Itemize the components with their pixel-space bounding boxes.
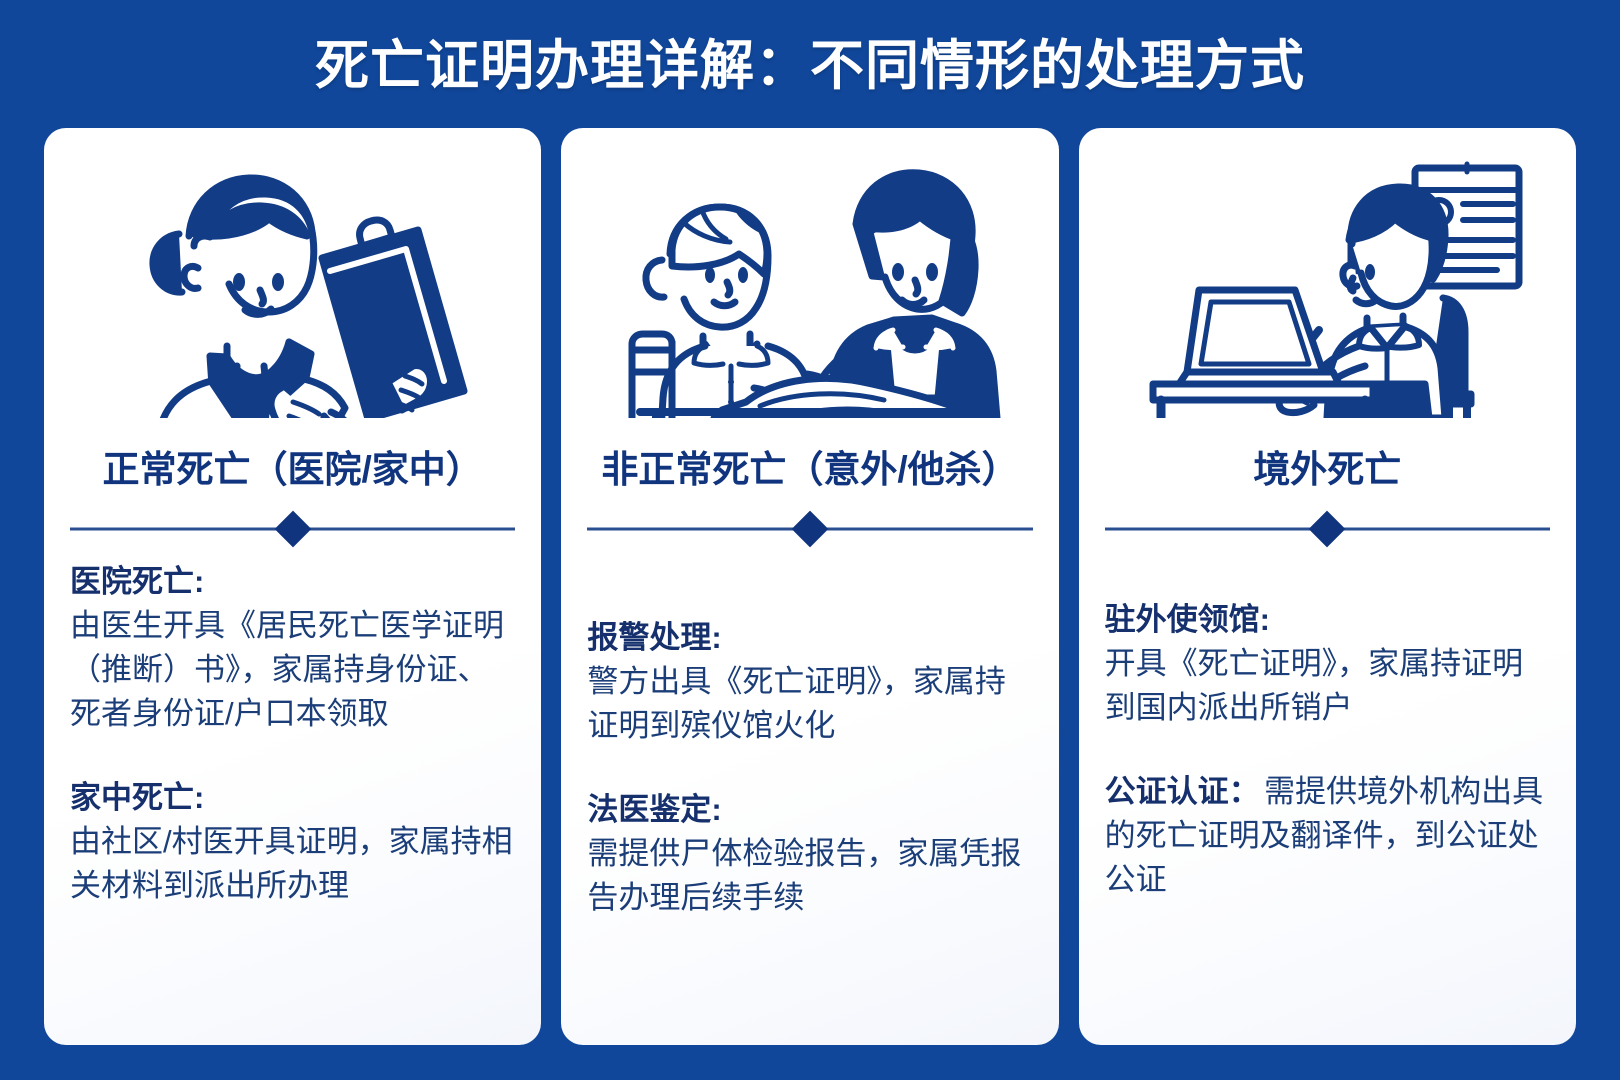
card-abnormal-death[interactable]: 非正常死亡（意外/他杀） 报警处理: 警方出具《死亡证明》，家属持证明到殡仪馆火… bbox=[561, 128, 1058, 1045]
section-divider bbox=[587, 512, 1032, 546]
card-overseas-death[interactable]: 境外死亡 驻外使领馆: 开具《死亡证明》，家属持证明到国内派出所销户 公证认证：… bbox=[1079, 128, 1576, 1045]
info-block-label: 公证认证： bbox=[1105, 774, 1260, 809]
card-title: 非正常死亡（意外/他杀） bbox=[587, 418, 1032, 492]
section-divider bbox=[1105, 512, 1550, 546]
info-block-text: 警方出具《死亡证明》，家属持证明到殡仪馆火化 bbox=[587, 660, 1032, 748]
info-block: 法医鉴定: 需提供尸体检验报告，家属凭报告办理后续手续 bbox=[587, 788, 1032, 920]
info-block: 家中死亡: 由社区/村医开具证明，家属持相关材料到派出所办理 bbox=[70, 776, 515, 908]
card-title: 正常死亡（医院/家中） bbox=[70, 418, 515, 492]
info-block-label: 报警处理: bbox=[587, 616, 1032, 660]
info-block-label: 驻外使领馆: bbox=[1105, 598, 1550, 642]
info-block-label: 家中死亡: bbox=[70, 776, 515, 820]
info-block-text: 需提供尸体检验报告，家属凭报告办理后续手续 bbox=[587, 832, 1032, 920]
diamond-icon bbox=[274, 511, 311, 548]
card-body: 报警处理: 警方出具《死亡证明》，家属持证明到殡仪馆火化 法医鉴定: 需提供尸体… bbox=[587, 552, 1032, 1025]
info-block: 公证认证： 需提供境外机构出具的死亡证明及翻译件，到公证处公证 bbox=[1105, 770, 1550, 902]
clerk-at-desk-with-laptop-illustration bbox=[1105, 146, 1550, 418]
card-body: 驻外使领馆: 开具《死亡证明》，家属持证明到国内派出所销户 公证认证： 需提供境… bbox=[1105, 552, 1550, 1025]
cards-row: 正常死亡（医院/家中） 医院死亡: 由医生开具《居民死亡医学证明（推断）书》，家… bbox=[44, 128, 1576, 1045]
info-block-text: 由医生开具《居民死亡医学证明（推断）书》，家属持身份证、死者身份证/户口本领取 bbox=[70, 604, 515, 736]
info-block: 驻外使领馆: 开具《死亡证明》，家属持证明到国内派出所销户 bbox=[1105, 598, 1550, 730]
patient-in-bed-with-visitor-illustration bbox=[587, 146, 1032, 418]
info-block-label: 法医鉴定: bbox=[587, 788, 1032, 832]
info-block-label: 医院死亡: bbox=[70, 560, 515, 604]
title-bar: 死亡证明办理详解：不同情形的处理方式 bbox=[0, 0, 1620, 120]
info-block: 报警处理: 警方出具《死亡证明》，家属持证明到殡仪馆火化 bbox=[587, 616, 1032, 748]
card-title: 境外死亡 bbox=[1105, 418, 1550, 492]
page-title: 死亡证明办理详解：不同情形的处理方式 bbox=[315, 21, 1305, 100]
info-block: 医院死亡: 由医生开具《居民死亡医学证明（推断）书》，家属持身份证、死者身份证/… bbox=[70, 560, 515, 736]
card-body: 医院死亡: 由医生开具《居民死亡医学证明（推断）书》，家属持身份证、死者身份证/… bbox=[70, 552, 515, 1025]
info-block-text: 由社区/村医开具证明，家属持相关材料到派出所办理 bbox=[70, 820, 515, 908]
doctor-with-clipboard-illustration bbox=[70, 146, 515, 418]
section-divider bbox=[70, 512, 515, 546]
info-block-text: 开具《死亡证明》，家属持证明到国内派出所销户 bbox=[1105, 642, 1550, 730]
diamond-icon bbox=[792, 511, 829, 548]
card-normal-death[interactable]: 正常死亡（医院/家中） 医院死亡: 由医生开具《居民死亡医学证明（推断）书》，家… bbox=[44, 128, 541, 1045]
diamond-icon bbox=[1309, 511, 1346, 548]
